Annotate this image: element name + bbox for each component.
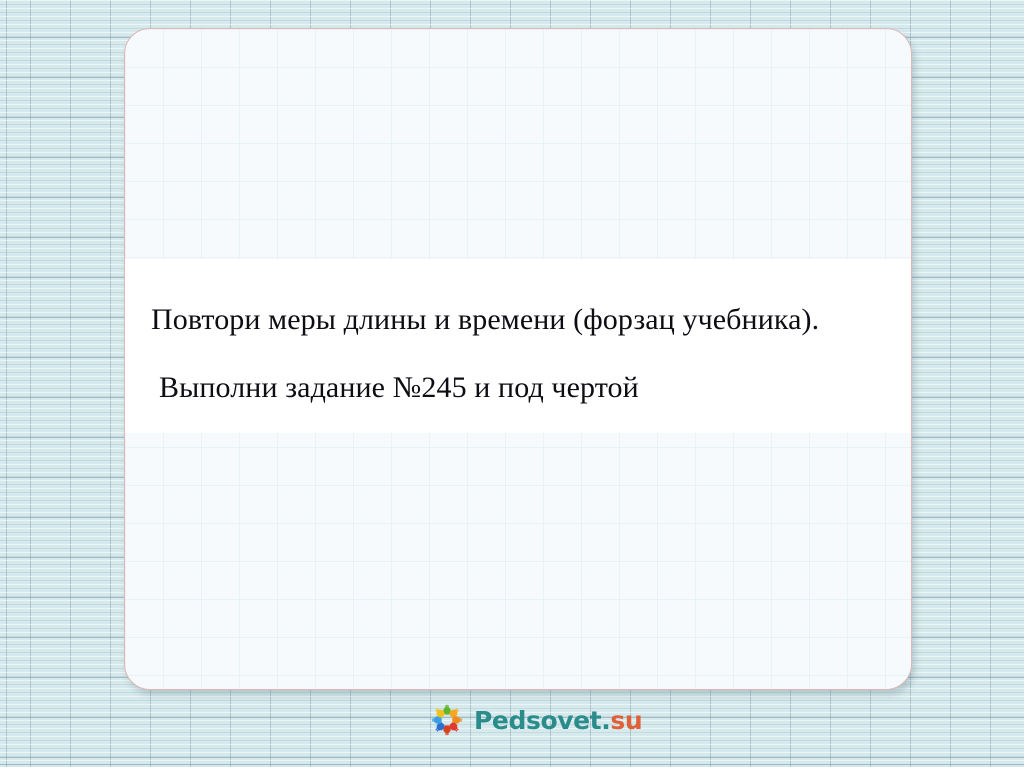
pedsovet-pinwheel-hands-logo-icon <box>428 701 466 739</box>
logo-word-dot: . <box>601 706 610 735</box>
body-line-1: Повтори меры длины и времени (форзац уче… <box>151 305 897 335</box>
logo-wordmark: Pedsovet.su <box>474 708 642 733</box>
body-text-block: Повтори меры длины и времени (форзац уче… <box>125 261 911 403</box>
pedsovet-logo[interactable]: Pedsovet.su <box>428 700 642 740</box>
slide-stage: Повтори меры длины и времени (форзац уче… <box>0 0 1024 767</box>
body-line-2: Выполни задание №245 и под чертой <box>159 373 897 403</box>
logo-word-tld: su <box>610 706 642 735</box>
content-card: Повтори меры длины и времени (форзац уче… <box>124 28 912 690</box>
logo-word-main: Pedsovet <box>474 706 601 735</box>
